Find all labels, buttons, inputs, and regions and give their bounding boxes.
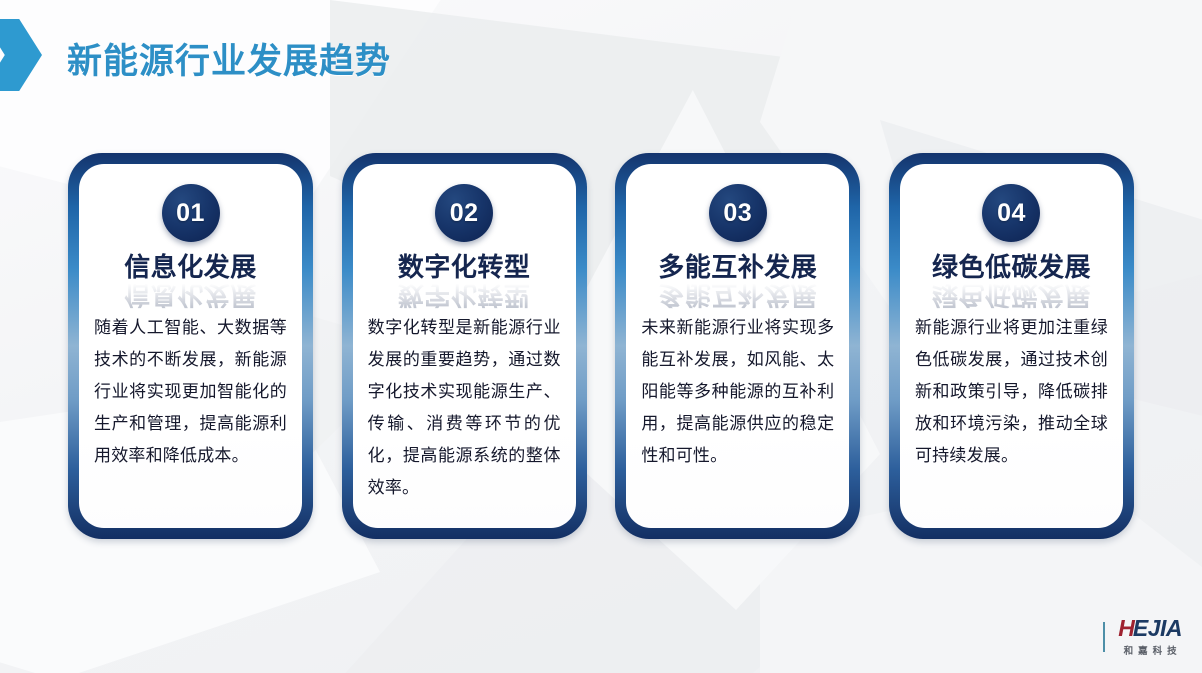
card-title-reflection: 多能互补发展 <box>641 281 834 308</box>
card-number-badge: 03 <box>709 184 767 242</box>
card-body-text: 随着人工智能、大数据等技术的不断发展，新能源行业将实现更加智能化的生产和管理，提… <box>94 312 287 472</box>
card-title-block: 绿色低碳发展 绿色低碳发展 <box>915 254 1108 306</box>
card-title-block: 信息化发展 信息化发展 <box>94 254 287 306</box>
card-title: 多能互补发展 <box>641 254 834 281</box>
company-logo: H EJIA 和嘉科技 <box>1103 617 1182 657</box>
card-inner: 01 信息化发展 信息化发展 随着人工智能、大数据等技术的不断发展，新能源行业将… <box>79 164 302 528</box>
card-body-text: 新能源行业将更加注重绿色低碳发展，通过技术创新和政策引导，降低碳排放和环境污染，… <box>915 312 1108 472</box>
logo-text: H EJIA 和嘉科技 <box>1118 617 1182 657</box>
card-title-reflection: 绿色低碳发展 <box>915 281 1108 308</box>
card-row: 01 信息化发展 信息化发展 随着人工智能、大数据等技术的不断发展，新能源行业将… <box>68 153 1134 539</box>
card-number: 02 <box>450 201 479 226</box>
card-number: 04 <box>997 201 1026 226</box>
card-inner: 02 数字化转型 数字化转型 数字化转型是新能源行业发展的重要趋势，通过数字化技… <box>353 164 576 528</box>
card-number: 01 <box>176 201 205 226</box>
card-title: 绿色低碳发展 <box>915 254 1108 281</box>
card-number-badge: 02 <box>435 184 493 242</box>
card-title-block: 数字化转型 数字化转型 <box>368 254 561 306</box>
card-inner: 03 多能互补发展 多能互补发展 未来新能源行业将实现多能互补发展，如风能、太阳… <box>626 164 849 528</box>
slide-canvas: 新能源行业发展趋势 01 信息化发展 信息化发展 随着人工智能、大数据等技术的不… <box>0 0 1202 673</box>
logo-divider <box>1103 622 1105 652</box>
card-inner: 04 绿色低碳发展 绿色低碳发展 新能源行业将更加注重绿色低碳发展，通过技术创新… <box>900 164 1123 528</box>
card-title-block: 多能互补发展 多能互补发展 <box>641 254 834 306</box>
logo-subtitle: 和嘉科技 <box>1119 643 1182 657</box>
chevron-right-icon <box>0 19 42 91</box>
card-title-reflection: 数字化转型 <box>368 281 561 308</box>
card-body-text: 数字化转型是新能源行业发展的重要趋势，通过数字化技术实现能源生产、传输、消费等环… <box>368 312 561 504</box>
card-02[interactable]: 02 数字化转型 数字化转型 数字化转型是新能源行业发展的重要趋势，通过数字化技… <box>342 153 587 539</box>
card-title-reflection: 信息化发展 <box>94 281 287 308</box>
card-number-badge: 01 <box>162 184 220 242</box>
card-04[interactable]: 04 绿色低碳发展 绿色低碳发展 新能源行业将更加注重绿色低碳发展，通过技术创新… <box>889 153 1134 539</box>
card-title: 信息化发展 <box>94 254 287 281</box>
logo-wordmark-first: H <box>1118 617 1133 640</box>
page-title: 新能源行业发展趋势 <box>67 33 391 84</box>
card-title: 数字化转型 <box>368 254 561 281</box>
card-01[interactable]: 01 信息化发展 信息化发展 随着人工智能、大数据等技术的不断发展，新能源行业将… <box>68 153 313 539</box>
card-number-badge: 04 <box>982 184 1040 242</box>
logo-wordmark: H EJIA <box>1118 617 1182 640</box>
card-number: 03 <box>723 201 752 226</box>
card-03[interactable]: 03 多能互补发展 多能互补发展 未来新能源行业将实现多能互补发展，如风能、太阳… <box>615 153 860 539</box>
card-body-text: 未来新能源行业将实现多能互补发展，如风能、太阳能等多种能源的互补利用，提高能源供… <box>641 312 834 472</box>
logo-wordmark-rest: EJIA <box>1133 617 1182 640</box>
